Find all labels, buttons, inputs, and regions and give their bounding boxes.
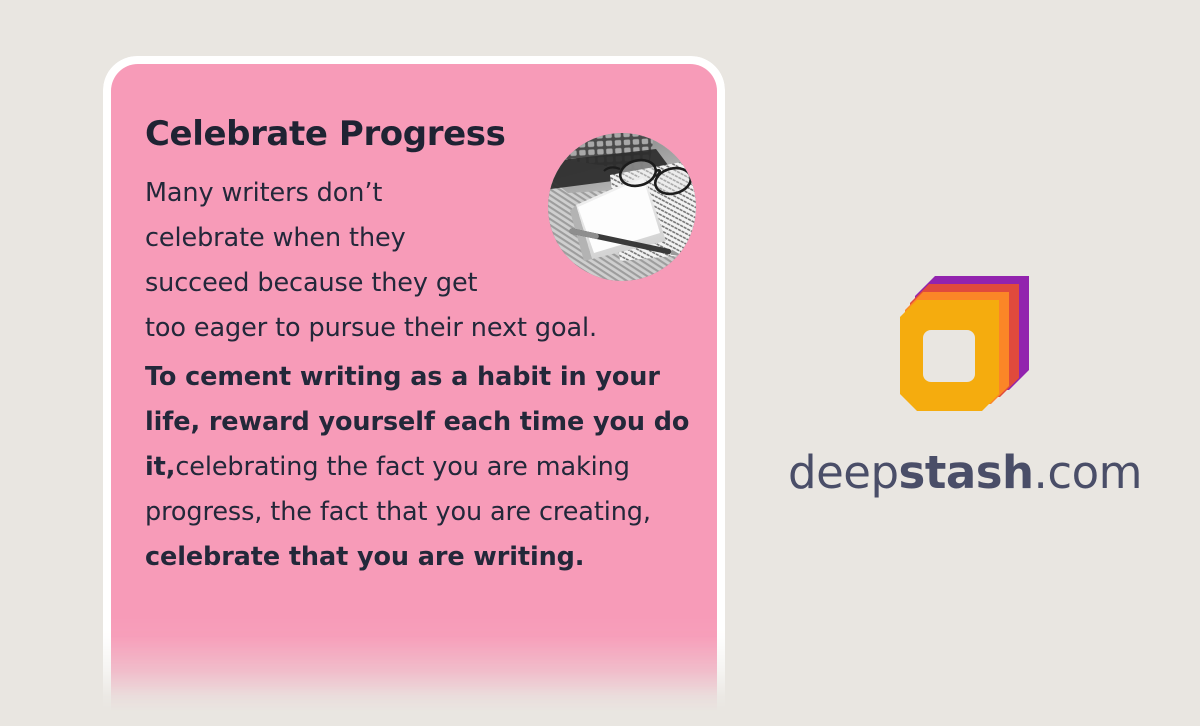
idea-card-frame[interactable]: Celebrate Progress bbox=[103, 56, 725, 716]
idea-paragraph-1: Many writers don’t celebrate when they s… bbox=[145, 159, 695, 351]
brand-block: deepstash.com bbox=[760, 262, 1170, 495]
brand-wordmark: deepstash.com bbox=[760, 450, 1170, 495]
page-title: Celebrate Progress bbox=[145, 116, 565, 153]
wordmark-deep: deep bbox=[788, 446, 899, 499]
wordmark-tld: .com bbox=[1034, 446, 1142, 499]
wordmark-stash: stash bbox=[899, 446, 1034, 499]
deepstash-stacked-cube-logo bbox=[889, 262, 1041, 414]
idea-paragraph-2: To cement writing as a habit in your lif… bbox=[145, 355, 717, 580]
idea-body: Many writers don’t celebrate when they s… bbox=[145, 159, 695, 580]
logo-cutout-square bbox=[923, 330, 975, 382]
idea-run-bold-2: celebrate that you are writing. bbox=[145, 542, 584, 572]
idea-card-content: Celebrate Progress bbox=[111, 64, 717, 716]
idea-card[interactable]: Celebrate Progress bbox=[111, 64, 717, 716]
photo-text-wrap-spacer bbox=[483, 171, 695, 263]
screenshot-canvas: Celebrate Progress bbox=[0, 0, 1200, 726]
idea-run-regular: celebrating the fact you are making prog… bbox=[145, 452, 651, 527]
